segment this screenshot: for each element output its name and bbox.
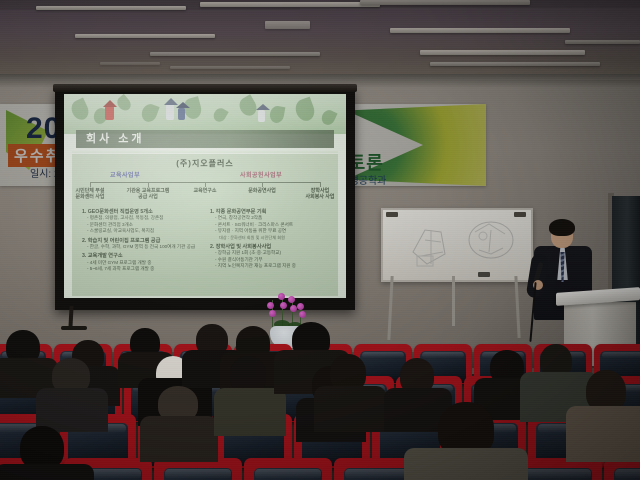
org-chart-root: (주)지오플러스 — [72, 158, 338, 169]
screen-roller-bar — [53, 84, 357, 92]
org-leaf: 장학사업사회봉사 사업 — [292, 188, 346, 200]
org-category-right: 사회공헌사업부 — [240, 170, 282, 179]
whiteboard-leg — [452, 276, 455, 326]
slide-bullet-detail: 대상 : 문화센터 회원 및 시민단체 회원 — [210, 235, 334, 241]
slide-bullet-detail: - 한글, 수학, 과학, GYM 영역 등 전국 100여개 기관 공급 — [82, 244, 206, 250]
whiteboard — [381, 208, 533, 282]
projection-screen: 회사 소개 (주)지오플러스 교육사업부 사회공헌사업부 시민단체 부설문화센터… — [55, 88, 355, 310]
org-leaf: 문화공연사업 — [234, 188, 290, 194]
slide-bullet-detail: - 5~6세, 7세 과학 프로그램 개발 중 — [82, 266, 206, 272]
org-leaf: 교육연구소 — [177, 188, 233, 194]
house-icon — [258, 110, 265, 122]
slide-left-column: 1. GEO문화센터 직접운영 5개소- 평촌점, 의왕점, 고사점, 목동점,… — [82, 206, 206, 273]
house-icon — [105, 106, 114, 120]
slide-divider — [72, 151, 338, 153]
projected-slide: 회사 소개 (주)지오플러스 교육사업부 사회공헌사업부 시민단체 부설문화센터… — [64, 94, 346, 298]
slide-right-column: 1. 각종 문화공연부문 기획- 연극, 창작공연작 2작품- 콘서트 · SG… — [210, 206, 334, 270]
slide-bullet-detail: - 지역 노인복지기관 재능 프로그램 지원 중 — [210, 263, 334, 269]
whiteboard-sketch-left — [407, 222, 467, 272]
ceiling — [0, 0, 640, 82]
presentation-room-photo: 200 우수취업 일시: 2009. 수회 공전략토론 대학교 환경공학과 — [0, 0, 640, 480]
org-leaf: 시민단체 부설문화센터 사업 — [64, 188, 118, 200]
whiteboard-sketch-right — [465, 218, 521, 266]
slide-bullet-detail: - 스쿨링교실, 아교육사업도, 복지점 — [82, 228, 206, 234]
house-icon — [178, 108, 185, 120]
speaker-hair — [549, 219, 575, 236]
seat[interactable] — [244, 458, 332, 480]
house-icon — [166, 104, 174, 120]
org-leaf: 기관용 교육프로그램공급 사업 — [120, 188, 176, 200]
slide-body: (주)지오플러스 교육사업부 사회공헌사업부 시민단체 부설문화센터 사업 기관… — [72, 154, 338, 296]
slide-header-image — [64, 94, 346, 134]
audience-seating — [0, 330, 640, 480]
slide-title: 회사 소개 — [86, 131, 286, 147]
org-category-left: 교육사업부 — [110, 170, 140, 179]
